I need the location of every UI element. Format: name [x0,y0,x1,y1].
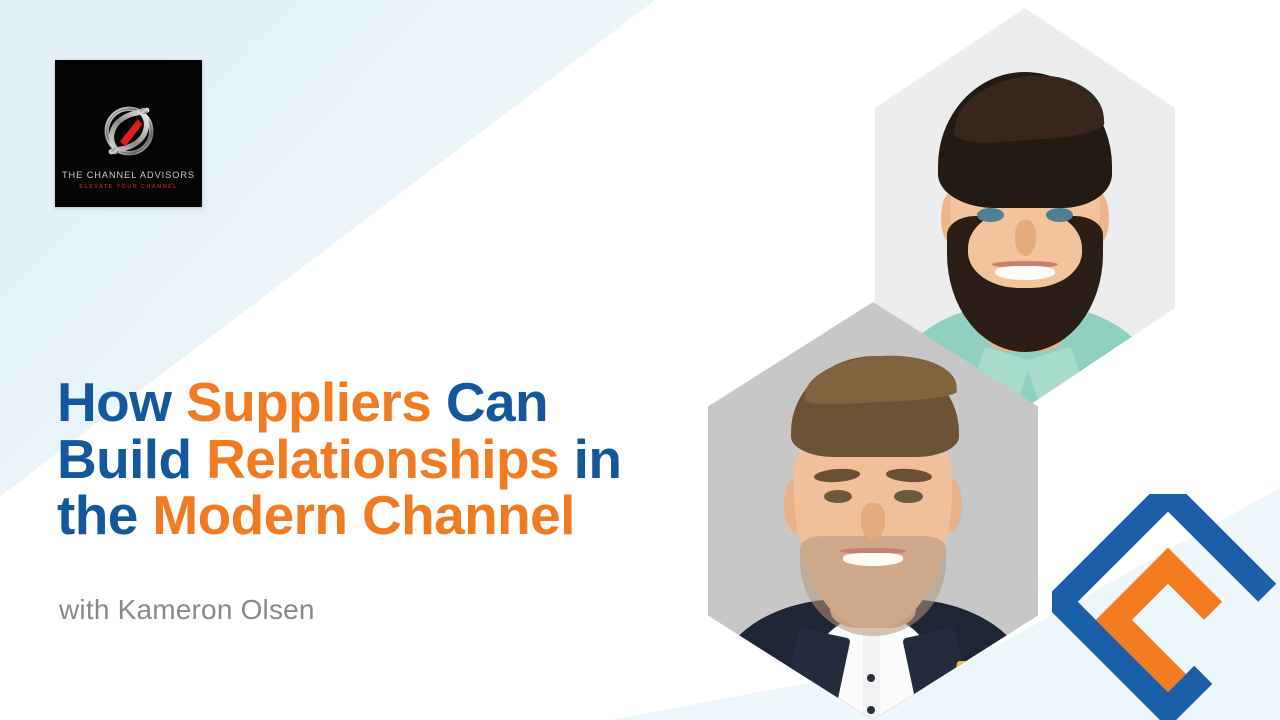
channel-advisors-logo-tile[interactable]: THE CHANNEL ADVISORS ELEVATE YOUR CHANNE… [55,60,202,207]
title-line-2-part-1: Build [57,428,206,490]
title-line-2: Build Relationships in [57,431,697,488]
title-line-3-part-1: the [57,484,152,546]
title-line-1-part-3: Can [446,371,548,433]
chrome-swoosh-emblem-icon [92,94,166,168]
speaker-top-eye-left [977,208,1004,222]
title-line-3-part-2: Modern Channel [152,484,574,546]
speaker-bottom-nose [861,503,884,541]
page-title: How Suppliers Can Build Relationships in… [57,374,697,544]
speaker-bottom-shirt-button-lower [867,706,875,714]
title-line-2-part-3: in [574,428,622,490]
speaker-bottom-lapel-pin-blue [963,661,972,674]
logo-wordmark: THE CHANNEL ADVISORS [55,170,202,180]
title-line-1-part-1: How [57,371,186,433]
title-line-2-part-2: Relationships [206,428,574,490]
speaker-bottom-lapel-pin-yellow [954,661,967,674]
slide-canvas: THE CHANNEL ADVISORS ELEVATE YOUR CHANNE… [0,0,1280,720]
channel-advisors-geometric-mark-icon [1052,494,1280,720]
speaker-top-hair-sweep [951,71,1105,145]
title-line-1-part-2: Suppliers [186,371,446,433]
speaker-top-eye-right [1046,208,1073,222]
title-line-1: How Suppliers Can [57,374,697,431]
title-line-3: the Modern Channel [57,487,697,544]
logo-tagline: ELEVATE YOUR CHANNEL [55,184,202,190]
speaker-bottom-hair-sweep [803,352,957,406]
speaker-top-nose [1015,220,1036,256]
subtitle-speaker-credit: with Kameron Olsen [59,594,315,626]
